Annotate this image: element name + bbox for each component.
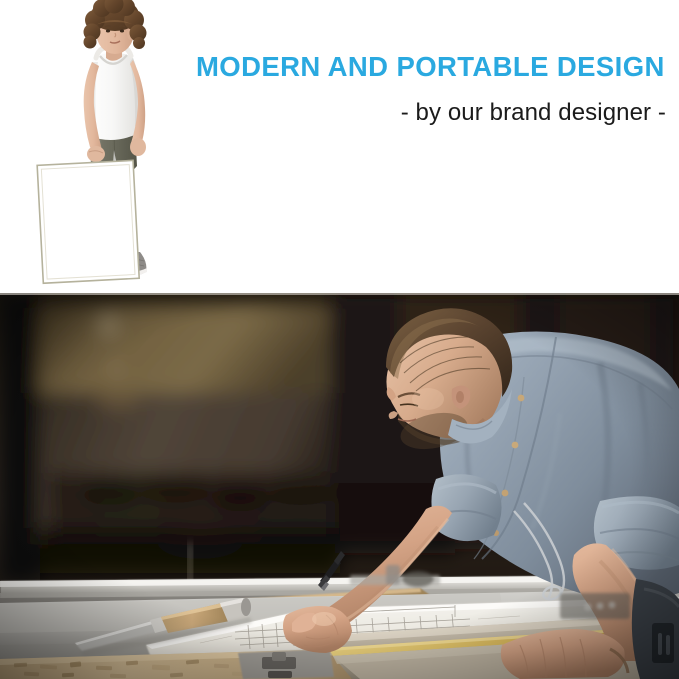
page-title: MODERN AND PORTABLE DESIGN — [196, 52, 666, 82]
boy-blank-board — [37, 160, 139, 283]
boy-left-eye — [106, 30, 110, 33]
boy-right-eye — [120, 30, 124, 33]
workshop-photo — [0, 293, 679, 679]
boy-holding-board-photo — [34, 0, 194, 293]
boy-right-hand — [130, 138, 146, 156]
headline-block: MODERN AND PORTABLE DESIGN - by our bran… — [196, 52, 666, 127]
page-subtitle: - by our brand designer - — [196, 99, 666, 127]
banner-section: MODERN AND PORTABLE DESIGN - by our bran… — [0, 0, 679, 293]
product-listing-image: MODERN AND PORTABLE DESIGN - by our bran… — [0, 0, 679, 679]
boy-left-hand — [87, 146, 105, 162]
photo-vignette — [0, 293, 679, 679]
